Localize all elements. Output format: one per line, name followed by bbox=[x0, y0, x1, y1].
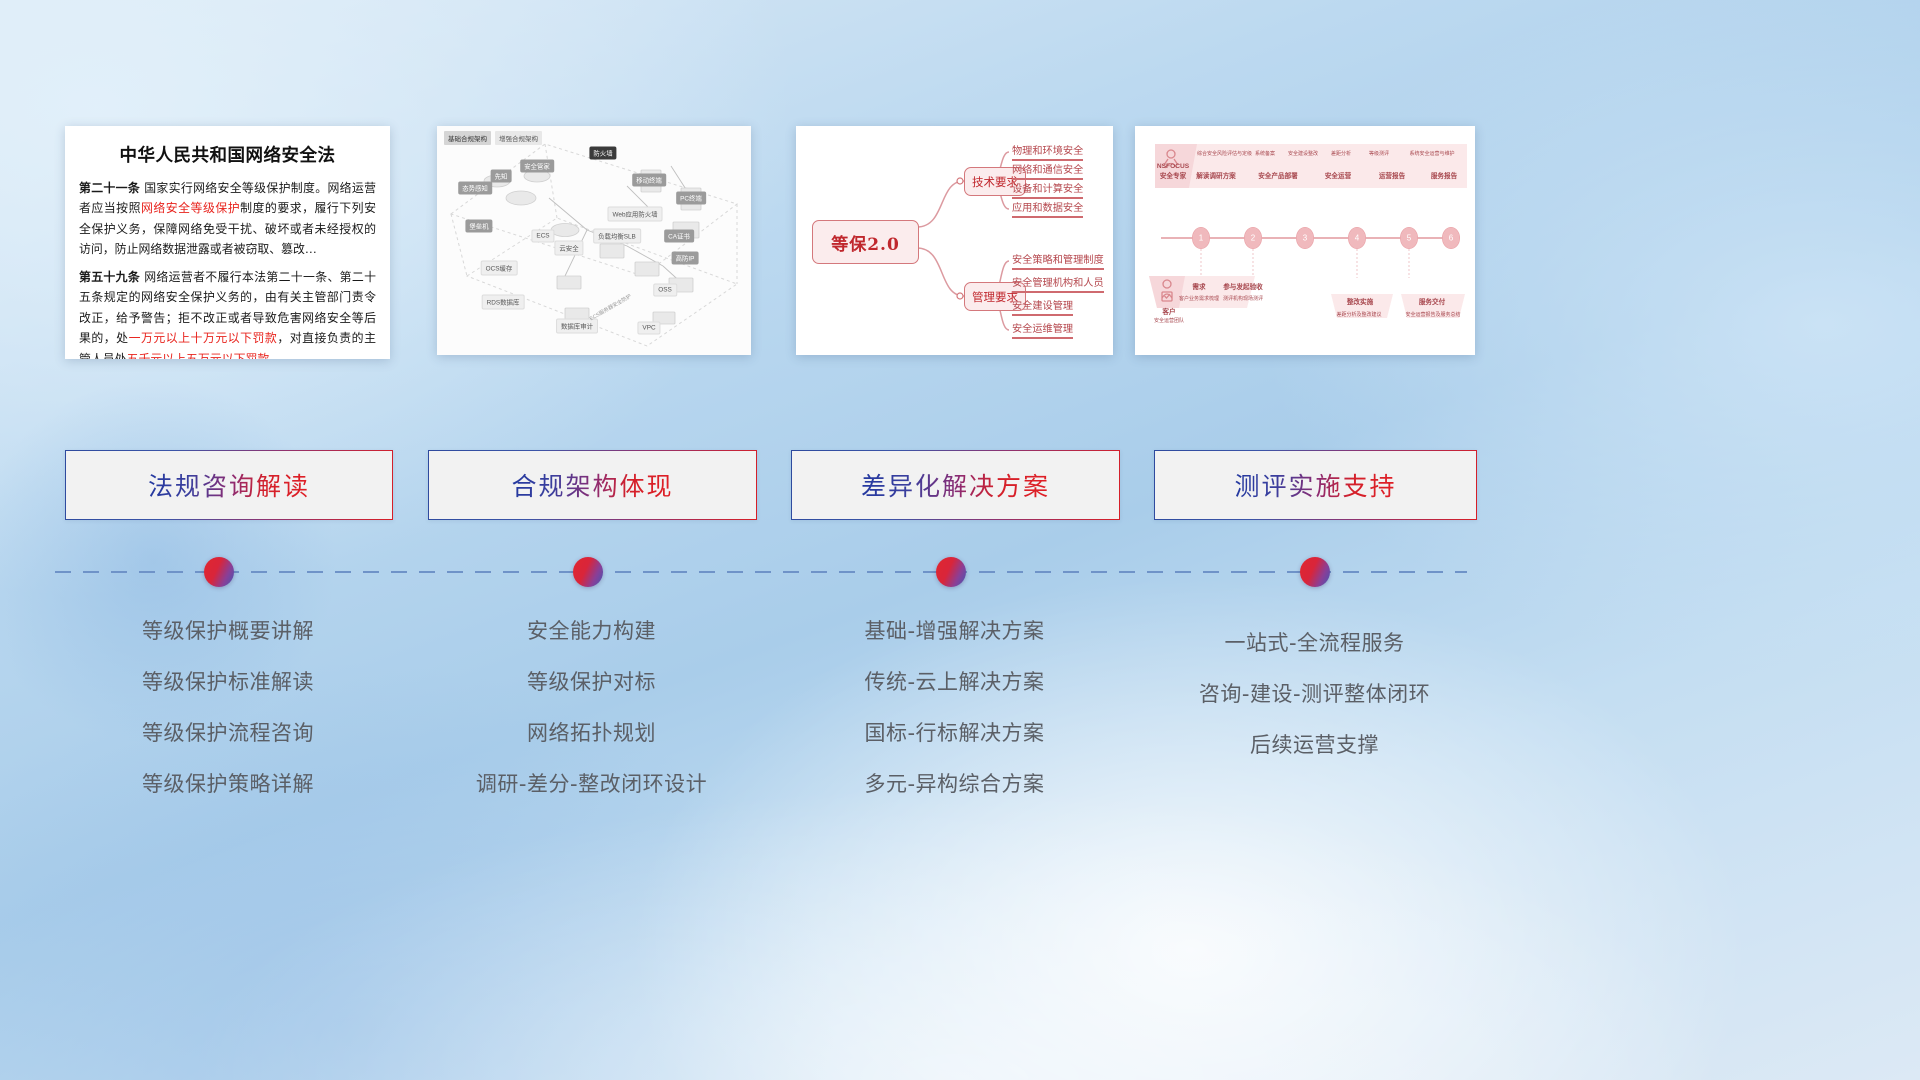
nsfocus-phase-3: 安全运营 bbox=[1313, 172, 1363, 181]
law-document: 中华人民共和国网络安全法 第二十一条 国家实行网络安全等级保护制度。网络运营者应… bbox=[65, 126, 390, 359]
mindmap-leaf-physical-environment: 物理和环境安全 bbox=[1012, 142, 1083, 161]
nsfocus-phase-4: 运营报告 bbox=[1367, 172, 1417, 181]
law-article-59: 第五十九条 网络运营者不履行本法第二十一条、第二十五条规定的网络安全保护义务的，… bbox=[79, 267, 376, 359]
node-vpc: VPC bbox=[637, 322, 660, 335]
nsfocus-bottom-title-4: 服务交付 bbox=[1407, 298, 1457, 307]
list-item: 等级保护标准解读 bbox=[65, 657, 391, 708]
nsfocus-bottom-sub-2: 测评机构现场测评 bbox=[1217, 296, 1269, 303]
section-title-box-4[interactable]: 测评实施支持 bbox=[1154, 450, 1477, 520]
card-mindmap-dengbao: 等保2.0 技术要求 管理要求 物理和环境安全 网络和通信安全 设备和计算安全 … bbox=[796, 126, 1113, 355]
nsfocus-phase-5: 服务报告 bbox=[1419, 172, 1469, 181]
nsfocus-step-2: 2 bbox=[1245, 228, 1262, 249]
node-cloud-security: 云安全 bbox=[554, 241, 583, 256]
article-59-highlight-1: 一万元以上十万元以下罚款 bbox=[129, 331, 278, 345]
article-21-highlight: 网络安全等级保护 bbox=[141, 201, 240, 215]
node-xianzhi: 先知 bbox=[491, 170, 512, 183]
law-article-21: 第二十一条 国家实行网络安全等级保护制度。网络运营者应当按照网络安全等级保护制度… bbox=[79, 178, 376, 260]
nsfocus-top-chip-1: 综合安全风险评估与定级 bbox=[1197, 151, 1245, 158]
node-mobile-terminal: 移动终端 bbox=[632, 174, 666, 187]
mindmap-leaf-security-policy: 安全策略和管理制度 bbox=[1012, 251, 1104, 270]
detail-list-2: 安全能力构建 等级保护对标 网络拓扑规划 调研-差分-整改闭环设计 bbox=[428, 606, 755, 810]
mindmap-root: 等保2.0 bbox=[812, 220, 919, 264]
list-item: 安全能力构建 bbox=[428, 606, 755, 657]
list-item: 基础-增强解决方案 bbox=[791, 606, 1118, 657]
list-item: 后续运营支撑 bbox=[1154, 720, 1475, 771]
section-title-row: 法规咨询解读 合规架构体现 差异化解决方案 测评实施支持 bbox=[0, 450, 1920, 518]
nsfocus-timeline: NSFOCUS 安全专家 综合安全风险评估与定级 系统备案 安全建设整改 差距分… bbox=[1135, 126, 1475, 355]
timeline-dashed-line bbox=[55, 571, 1467, 573]
node-firewall: 防火墙 bbox=[589, 147, 616, 160]
nsfocus-top-chip-5: 等级测评 bbox=[1361, 151, 1397, 158]
nsfocus-step-6: 6 bbox=[1443, 228, 1460, 249]
node-pc-terminal: PC终端 bbox=[676, 192, 706, 205]
node-ca-certificate: CA证书 bbox=[664, 230, 694, 243]
list-item: 咨询-建设-测评整体闭环 bbox=[1154, 669, 1475, 720]
list-item: 等级保护概要讲解 bbox=[65, 606, 391, 657]
article-21-label: 第二十一条 bbox=[79, 181, 140, 195]
nsfocus-step-4: 4 bbox=[1349, 228, 1366, 249]
node-situational-awareness: 态势感知 bbox=[458, 182, 492, 195]
nsfocus-step-5: 5 bbox=[1401, 228, 1418, 249]
mindmap-leaf-management-org: 安全管理机构和人员 bbox=[1012, 274, 1104, 293]
nsfocus-customer-sub: 安全运营团队 bbox=[1141, 318, 1197, 325]
card-nsfocus-service-flow: NSFOCUS 安全专家 综合安全风险评估与定级 系统备案 安全建设整改 差距分… bbox=[1135, 126, 1475, 355]
node-security-butler: 安全管家 bbox=[520, 160, 554, 173]
node-ocs-cache: OCS缓存 bbox=[481, 261, 518, 276]
card-cybersecurity-law: 中华人民共和国网络安全法 第二十一条 国家实行网络安全等级保护制度。网络运营者应… bbox=[65, 126, 390, 359]
mindmap: 等保2.0 技术要求 管理要求 物理和环境安全 网络和通信安全 设备和计算安全 … bbox=[796, 126, 1113, 355]
mindmap-leaf-ops-mgmt: 安全运维管理 bbox=[1012, 320, 1073, 339]
article-59-label: 第五十九条 bbox=[79, 270, 140, 284]
law-title: 中华人民共和国网络安全法 bbox=[79, 142, 376, 167]
list-item: 等级保护流程咨询 bbox=[65, 708, 391, 759]
detail-list-3: 基础-增强解决方案 传统-云上解决方案 国标-行标解决方案 多元-异构综合方案 bbox=[791, 606, 1118, 810]
nsfocus-phase-2: 安全产品部署 bbox=[1249, 172, 1307, 181]
nsfocus-top-chip-3: 安全建设整改 bbox=[1285, 151, 1321, 158]
list-item: 国标-行标解决方案 bbox=[791, 708, 1118, 759]
list-item: 等级保护策略详解 bbox=[65, 759, 391, 810]
node-ecs: ECS bbox=[531, 230, 554, 243]
detail-list-1: 等级保护概要讲解 等级保护标准解读 等级保护流程咨询 等级保护策略详解 bbox=[65, 606, 391, 810]
node-anti-ddos: 高防IP bbox=[672, 252, 699, 265]
timeline-dot-4[interactable] bbox=[1300, 557, 1330, 587]
timeline-dot-2[interactable] bbox=[573, 557, 603, 587]
nsfocus-top-chip-2: 系统备案 bbox=[1247, 151, 1283, 158]
card-compliance-architecture: 基础合规架构 增强合规架构 bbox=[437, 126, 751, 355]
list-item: 网络拓扑规划 bbox=[428, 708, 755, 759]
nsfocus-phase-1: 解读调研方案 bbox=[1187, 172, 1245, 181]
nsfocus-top-chip-4: 差距分析 bbox=[1323, 151, 1359, 158]
node-waf: Web应用防火墙 bbox=[608, 207, 663, 222]
timeline-dot-3[interactable] bbox=[936, 557, 966, 587]
nsfocus-bottom-title-2: 参与发起验收 bbox=[1221, 283, 1265, 292]
section-title-2: 合规架构体现 bbox=[511, 467, 673, 503]
section-title-box-1[interactable]: 法规咨询解读 bbox=[65, 450, 393, 520]
timeline-dot-1[interactable] bbox=[204, 557, 234, 587]
section-title-4: 测评实施支持 bbox=[1234, 467, 1396, 503]
mindmap-leaf-application-data: 应用和数据安全 bbox=[1012, 199, 1083, 218]
section-title-3: 差异化解决方案 bbox=[861, 467, 1050, 503]
slide-stage: 中华人民共和国网络安全法 第二十一条 国家实行网络安全等级保护制度。网络运营者应… bbox=[0, 0, 1920, 1080]
list-item: 多元-异构综合方案 bbox=[791, 759, 1118, 810]
detail-list-4: 一站式-全流程服务 咨询-建设-测评整体闭环 后续运营支撑 bbox=[1154, 618, 1475, 771]
timeline bbox=[55, 558, 1467, 586]
nsfocus-expert-line1: NSFOCUS bbox=[1147, 162, 1199, 171]
nsfocus-top-chip-6: 系统安全运营与维护 bbox=[1401, 151, 1463, 158]
nsfocus-bottom-sub-3: 差距分析及整改建议 bbox=[1327, 312, 1391, 319]
nsfocus-customer-label: 客户 bbox=[1143, 308, 1195, 317]
list-item: 一站式-全流程服务 bbox=[1154, 618, 1475, 669]
nsfocus-bottom-title-1: 需求 bbox=[1179, 283, 1219, 292]
mindmap-leaf-device-computing: 设备和计算安全 bbox=[1012, 180, 1083, 199]
nsfocus-step-1: 1 bbox=[1193, 228, 1210, 249]
section-title-box-3[interactable]: 差异化解决方案 bbox=[791, 450, 1120, 520]
node-rds-database: RDS数据库 bbox=[482, 295, 525, 310]
node-oss: OSS bbox=[653, 284, 677, 297]
section-title-1: 法规咨询解读 bbox=[148, 467, 310, 503]
node-bastion-host: 堡垒机 bbox=[465, 220, 492, 233]
mindmap-leaf-network-communication: 网络和通信安全 bbox=[1012, 161, 1083, 180]
illustration-card-row: 中华人民共和国网络安全法 第二十一条 国家实行网络安全等级保护制度。网络运营者应… bbox=[0, 126, 1920, 366]
list-item: 等级保护对标 bbox=[428, 657, 755, 708]
node-slb: 负载均衡SLB bbox=[593, 229, 641, 244]
section-title-box-2[interactable]: 合规架构体现 bbox=[428, 450, 757, 520]
nsfocus-bottom-sub-4: 安全运营报告及服务总结 bbox=[1399, 312, 1467, 319]
list-item: 传统-云上解决方案 bbox=[791, 657, 1118, 708]
article-59-highlight-2: 五千元以上五万元以下罚款。 bbox=[127, 352, 282, 359]
nsfocus-step-3: 3 bbox=[1297, 228, 1314, 249]
list-item: 调研-差分-整改闭环设计 bbox=[428, 759, 755, 810]
nsfocus-bottom-title-3: 整改实施 bbox=[1335, 298, 1385, 307]
mindmap-leaf-construction-mgmt: 安全建设管理 bbox=[1012, 297, 1073, 316]
architecture-diagram: 基础合规架构 增强合规架构 bbox=[437, 126, 751, 355]
